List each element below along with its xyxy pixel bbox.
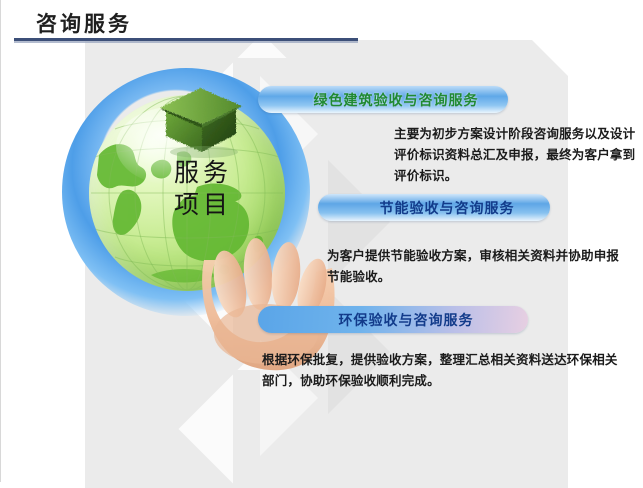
grass-house-icon: [150, 78, 254, 163]
globe-label-line1: 服务: [148, 158, 258, 190]
globe-label-line2: 项目: [148, 190, 258, 222]
service-body-green-building: 主要为初步方案设计阶段咨询服务以及设计评价标识资料总汇及申报，最终为客户拿到评价…: [394, 124, 638, 187]
globe-center-label: 服务 项目: [148, 158, 258, 222]
service-pill-green-building[interactable]: 绿色建筑验收与咨询服务: [258, 86, 508, 113]
service-body-energy-saving: 为客户提供节能验收方案，审核相关资料并协助申报节能验收。: [327, 246, 627, 288]
slide-canvas: 咨询服务: [0, 0, 643, 482]
page-title: 咨询服务: [36, 8, 132, 38]
corner-notch: [532, 40, 568, 76]
service-body-environmental: 根据环保批复，提供验收方案，整理汇总相关资料送达环保相关部门，协助环保验收顺利完…: [262, 350, 622, 392]
left-edge-rule: [0, 0, 1, 482]
service-pill-environmental[interactable]: 环保验收与咨询服务: [258, 306, 528, 333]
title-underline-soft: [14, 41, 358, 43]
service-pill-energy-saving[interactable]: 节能验收与咨询服务: [318, 194, 550, 221]
